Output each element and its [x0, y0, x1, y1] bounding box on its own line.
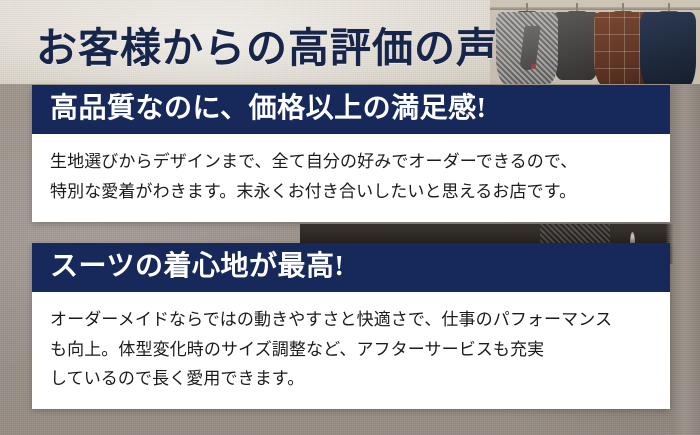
- testimonial-card-2-line-3: しているので長く愛用できます。: [50, 364, 652, 393]
- testimonial-card-2-line-1: オーダーメイドならではの動きやすさと快適さで、仕事のパフォーマンス: [50, 305, 652, 334]
- jacket-lapel-pin-icon: [531, 64, 536, 69]
- navy-jacket-icon: [640, 12, 696, 84]
- testimonial-card-2-line-2: も向上。体型変化時のサイズ調整など、アフターサービスも充実: [50, 335, 652, 364]
- testimonial-card-1: 高品質なのに、価格以上の満足感! 生地選びからデザインまで、全て自分の好みでオー…: [32, 85, 670, 222]
- page-title: お客様からの高評価の声: [36, 14, 498, 74]
- testimonial-card-2-header: スーツの着心地が最高!: [32, 243, 670, 292]
- testimonial-card-2: スーツの着心地が最高! オーダーメイドならではの動きやすさと快適さで、仕事のパフ…: [32, 243, 670, 409]
- testimonial-card-1-body: 生地選びからデザインまで、全て自分の好みでオーダーできるので、 特別な愛着がわき…: [32, 134, 670, 221]
- right-edge-drape: [666, 84, 700, 435]
- gray-herringbone-jacket-icon: [496, 12, 558, 84]
- testimonials-page: お客様からの高評価の声 高品質なのに、価格以上の満足感! 生地選びからデザインま…: [0, 0, 700, 435]
- testimonial-card-1-line-2: 特別な愛着がわきます。末永くお付き合いしたいと思えるお店です。: [50, 177, 652, 206]
- testimonial-card-2-heading: スーツの着心地が最高!: [50, 252, 670, 281]
- testimonial-card-1-header: 高品質なのに、価格以上の満足感!: [32, 85, 670, 134]
- testimonial-card-1-heading: 高品質なのに、価格以上の満足感!: [50, 94, 670, 123]
- hero-suits-photo: [490, 0, 700, 84]
- testimonial-card-1-line-1: 生地選びからデザインまで、全て自分の好みでオーダーできるので、: [50, 147, 652, 176]
- dark-charcoal-jacket-icon: [552, 12, 600, 80]
- jacket-lapel: [519, 26, 540, 70]
- testimonial-card-2-body: オーダーメイドならではの動きやすさと快適さで、仕事のパフォーマンス も向上。体型…: [32, 292, 670, 409]
